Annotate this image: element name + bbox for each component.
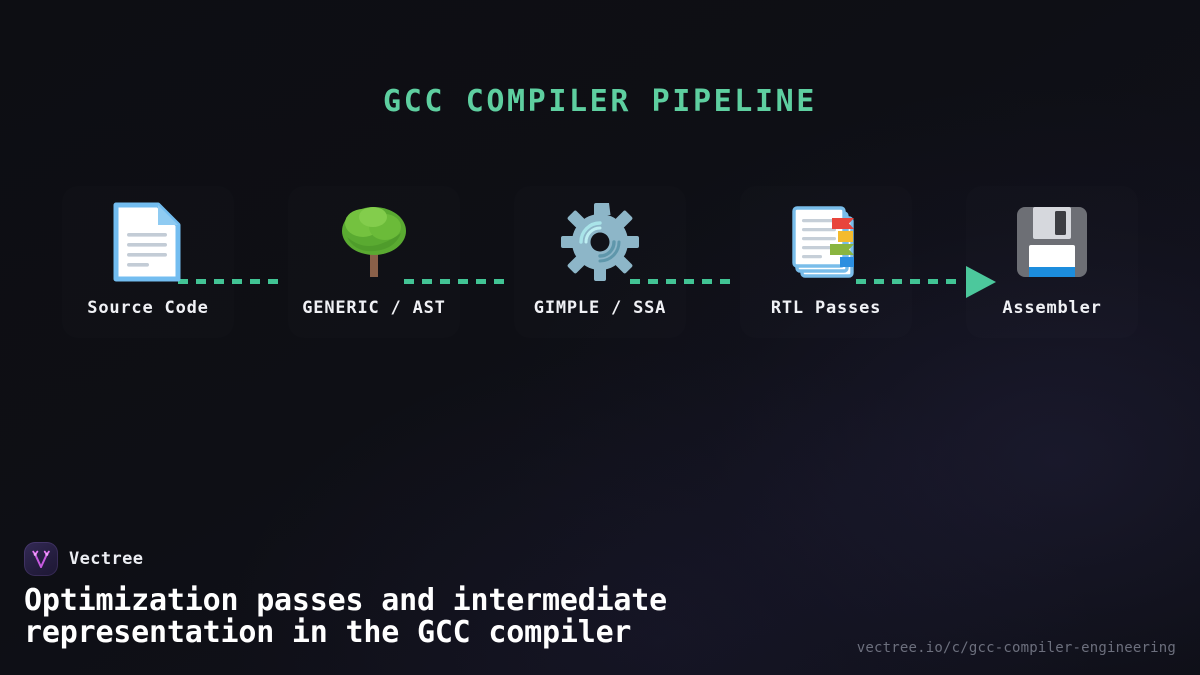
brand-name: Vectree [69,549,143,569]
pipeline-stage-gimple-ssa[interactable]: GIMPLE / SSA [514,186,686,338]
pipeline-stage-label: GENERIC / AST [302,298,445,318]
pipeline-stage-label: Assembler [1002,298,1101,318]
slide-canvas: GCC COMPILER PIPELINE [0,0,1200,675]
site-url: vectree.io/c/gcc-compiler-engineering [857,640,1176,656]
pipeline-stage-label: GIMPLE / SSA [534,298,666,318]
document-icon [100,194,196,290]
floppy-disk-icon [1004,194,1100,290]
pipeline-stage-rtl-passes[interactable]: RTL Passes [740,186,912,338]
pipeline-stage-source-code[interactable]: Source Code [62,186,234,338]
gear-icon [552,194,648,290]
pipeline-diagram: Source Code GENERIC / AST [0,186,1200,346]
page-title: GCC COMPILER PIPELINE [0,84,1200,119]
bookmark-tabs-icon [778,194,874,290]
tree-icon [326,194,422,290]
footer-headline: Optimization passes and intermediate rep… [24,585,844,649]
brand[interactable]: Vectree [24,542,143,576]
pipeline-stage-generic-ast[interactable]: GENERIC / AST [288,186,460,338]
vectree-logo-icon [24,542,58,576]
pipeline-stage-assembler[interactable]: Assembler [966,186,1138,338]
pipeline-stage-label: Source Code [87,298,208,318]
footer: Vectree Optimization passes and intermed… [0,537,1200,675]
pipeline-stage-label: RTL Passes [771,298,881,318]
